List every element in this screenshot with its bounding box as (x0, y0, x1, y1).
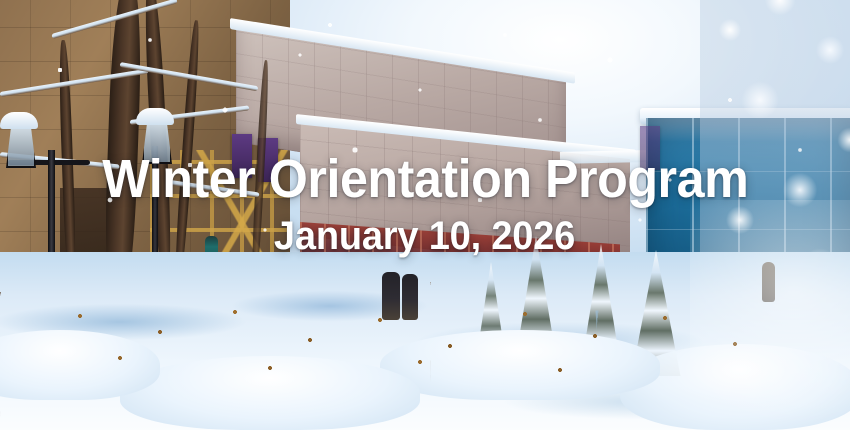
lantern-snow-cap (0, 112, 38, 129)
dried-seed-heads (20, 296, 810, 396)
winter-orientation-hero-banner: Winter Orientation Program January 10, 2… (0, 0, 850, 430)
campus-banner-flag (232, 134, 252, 178)
background-photo (0, 0, 850, 430)
lantern-snow-cap (136, 108, 174, 125)
